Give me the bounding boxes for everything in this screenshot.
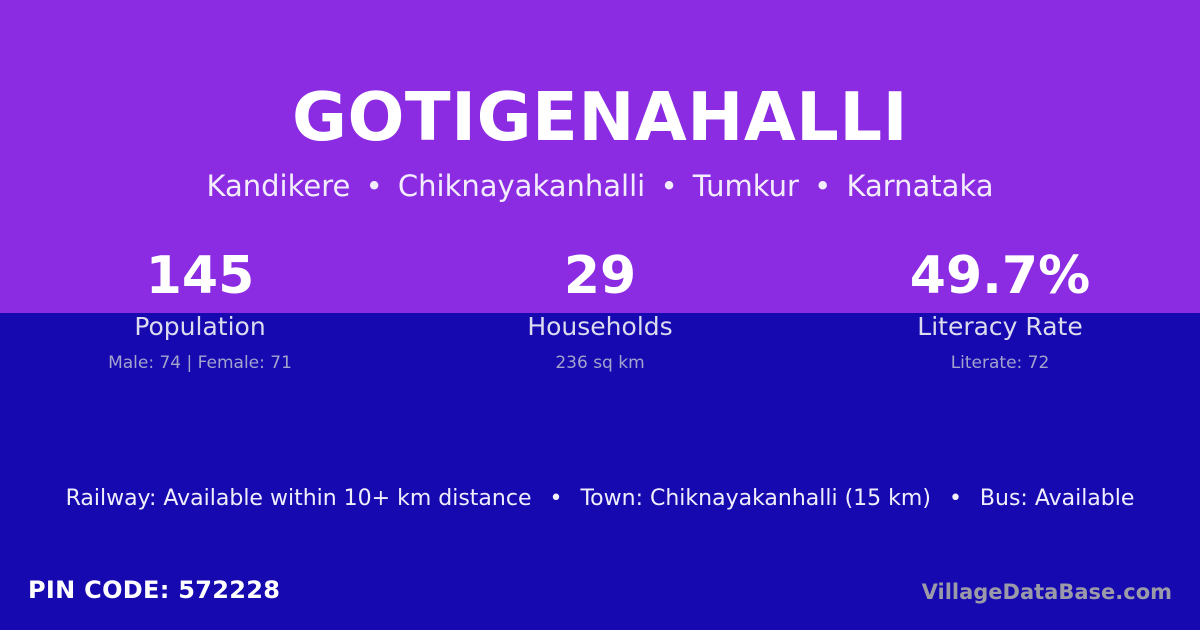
pin-code: PIN CODE: 572228 xyxy=(28,573,280,607)
stat-sublabel: Literate: 72 xyxy=(800,343,1200,375)
stat-value: 145 xyxy=(0,243,400,309)
breadcrumb-item-village: Kandikere xyxy=(206,169,350,203)
stat-households: 29 Households 236 sq km xyxy=(400,243,800,375)
facility-railway: Railway: Available within 10+ km distanc… xyxy=(66,486,532,511)
breadcrumb-item-state: Karnataka xyxy=(846,169,993,203)
breadcrumb: Kandikere • Chiknayakanhalli • Tumkur • … xyxy=(0,156,1200,203)
page-title: GOTIGENAHALLI xyxy=(0,78,1200,156)
breadcrumb-item-district: Tumkur xyxy=(693,169,799,203)
stat-label: Households xyxy=(400,309,800,343)
footer: PIN CODE: 572228 VillageDataBase.com xyxy=(0,573,1200,613)
facility-bus: Bus: Available xyxy=(980,486,1134,511)
facility-separator-icon: • xyxy=(938,486,973,511)
stat-label: Literacy Rate xyxy=(800,309,1200,343)
stat-literacy-rate: 49.7% Literacy Rate Literate: 72 xyxy=(800,243,1200,375)
breadcrumb-item-taluk: Chiknayakanhalli xyxy=(398,169,645,203)
stats-row: 145 Population Male: 74 | Female: 71 29 … xyxy=(0,243,1200,375)
stat-sublabel: 236 sq km xyxy=(400,343,800,375)
facilities-line: Railway: Available within 10+ km distanc… xyxy=(0,483,1200,515)
stat-label: Population xyxy=(0,309,400,343)
facility-town: Town: Chiknayakanhalli (15 km) xyxy=(580,486,930,511)
stat-sublabel: Male: 74 | Female: 71 xyxy=(0,343,400,375)
breadcrumb-separator-icon: • xyxy=(360,169,389,203)
facility-separator-icon: • xyxy=(539,486,574,511)
stat-population: 145 Population Male: 74 | Female: 71 xyxy=(0,243,400,375)
breadcrumb-separator-icon: • xyxy=(808,169,837,203)
stat-value: 49.7% xyxy=(800,243,1200,309)
title-block: GOTIGENAHALLI Kandikere • Chiknayakanhal… xyxy=(0,78,1200,203)
site-brand: VillageDataBase.com xyxy=(922,577,1172,607)
village-info-card: GOTIGENAHALLI Kandikere • Chiknayakanhal… xyxy=(0,0,1200,630)
stat-value: 29 xyxy=(400,243,800,309)
breadcrumb-separator-icon: • xyxy=(654,169,683,203)
